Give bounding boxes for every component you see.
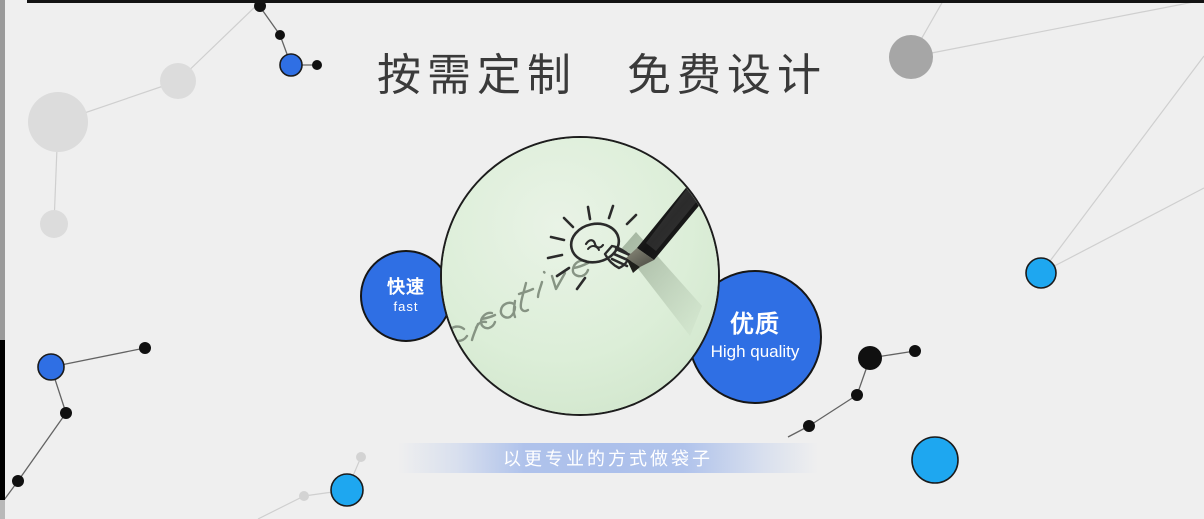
constellation-node-gray-sm-left <box>40 210 68 238</box>
promo-banner: 按需定制 免费设计 快速 fast 优质 High quality <box>0 0 1204 519</box>
constellation-node-black-dot-br2 <box>909 345 921 357</box>
creative-photo-circle <box>440 136 720 416</box>
creative-sketch-illustration <box>440 136 720 416</box>
feature-bubble-fast-title-cn: 快速 <box>387 276 425 298</box>
constellation-node-black-dot-l1 <box>139 342 151 354</box>
tagline-banner: 以更专业的方式做袋子 <box>398 443 818 473</box>
constellation-node-blue-node-left <box>38 354 64 380</box>
constellation-node-black-dot-br1 <box>858 346 882 370</box>
feature-bubble-quality-title-en: High quality <box>711 340 800 364</box>
constellation-node-cyan-node-br <box>912 437 958 483</box>
top-edge-bar <box>27 0 1204 3</box>
feature-bubble-fast[interactable]: 快速 fast <box>360 250 452 342</box>
page-title: 按需定制 免费设计 <box>0 46 1204 106</box>
constellation-node-black-dot-br3 <box>851 389 863 401</box>
constellation-node-cyan-node-bl <box>331 474 363 506</box>
constellation-node-gray-dot-bl2 <box>356 452 366 462</box>
left-edge-bar-black <box>0 340 5 500</box>
constellation-node-gray-dot-bl1 <box>299 491 309 501</box>
left-edge-bar-bottom <box>0 500 5 519</box>
constellation-node-black-dot-l3 <box>12 475 24 487</box>
feature-bubble-quality-title-cn: 优质 <box>730 310 780 340</box>
constellation-node-black-dot-br4 <box>803 420 815 432</box>
constellation-node-black-dot-top2 <box>275 30 285 40</box>
feature-bubble-fast-title-en: fast <box>394 298 419 316</box>
tagline-text: 以更专业的方式做袋子 <box>503 445 713 471</box>
constellation-node-black-dot-l2 <box>60 407 72 419</box>
constellation-node-cyan-node-right <box>1026 258 1056 288</box>
